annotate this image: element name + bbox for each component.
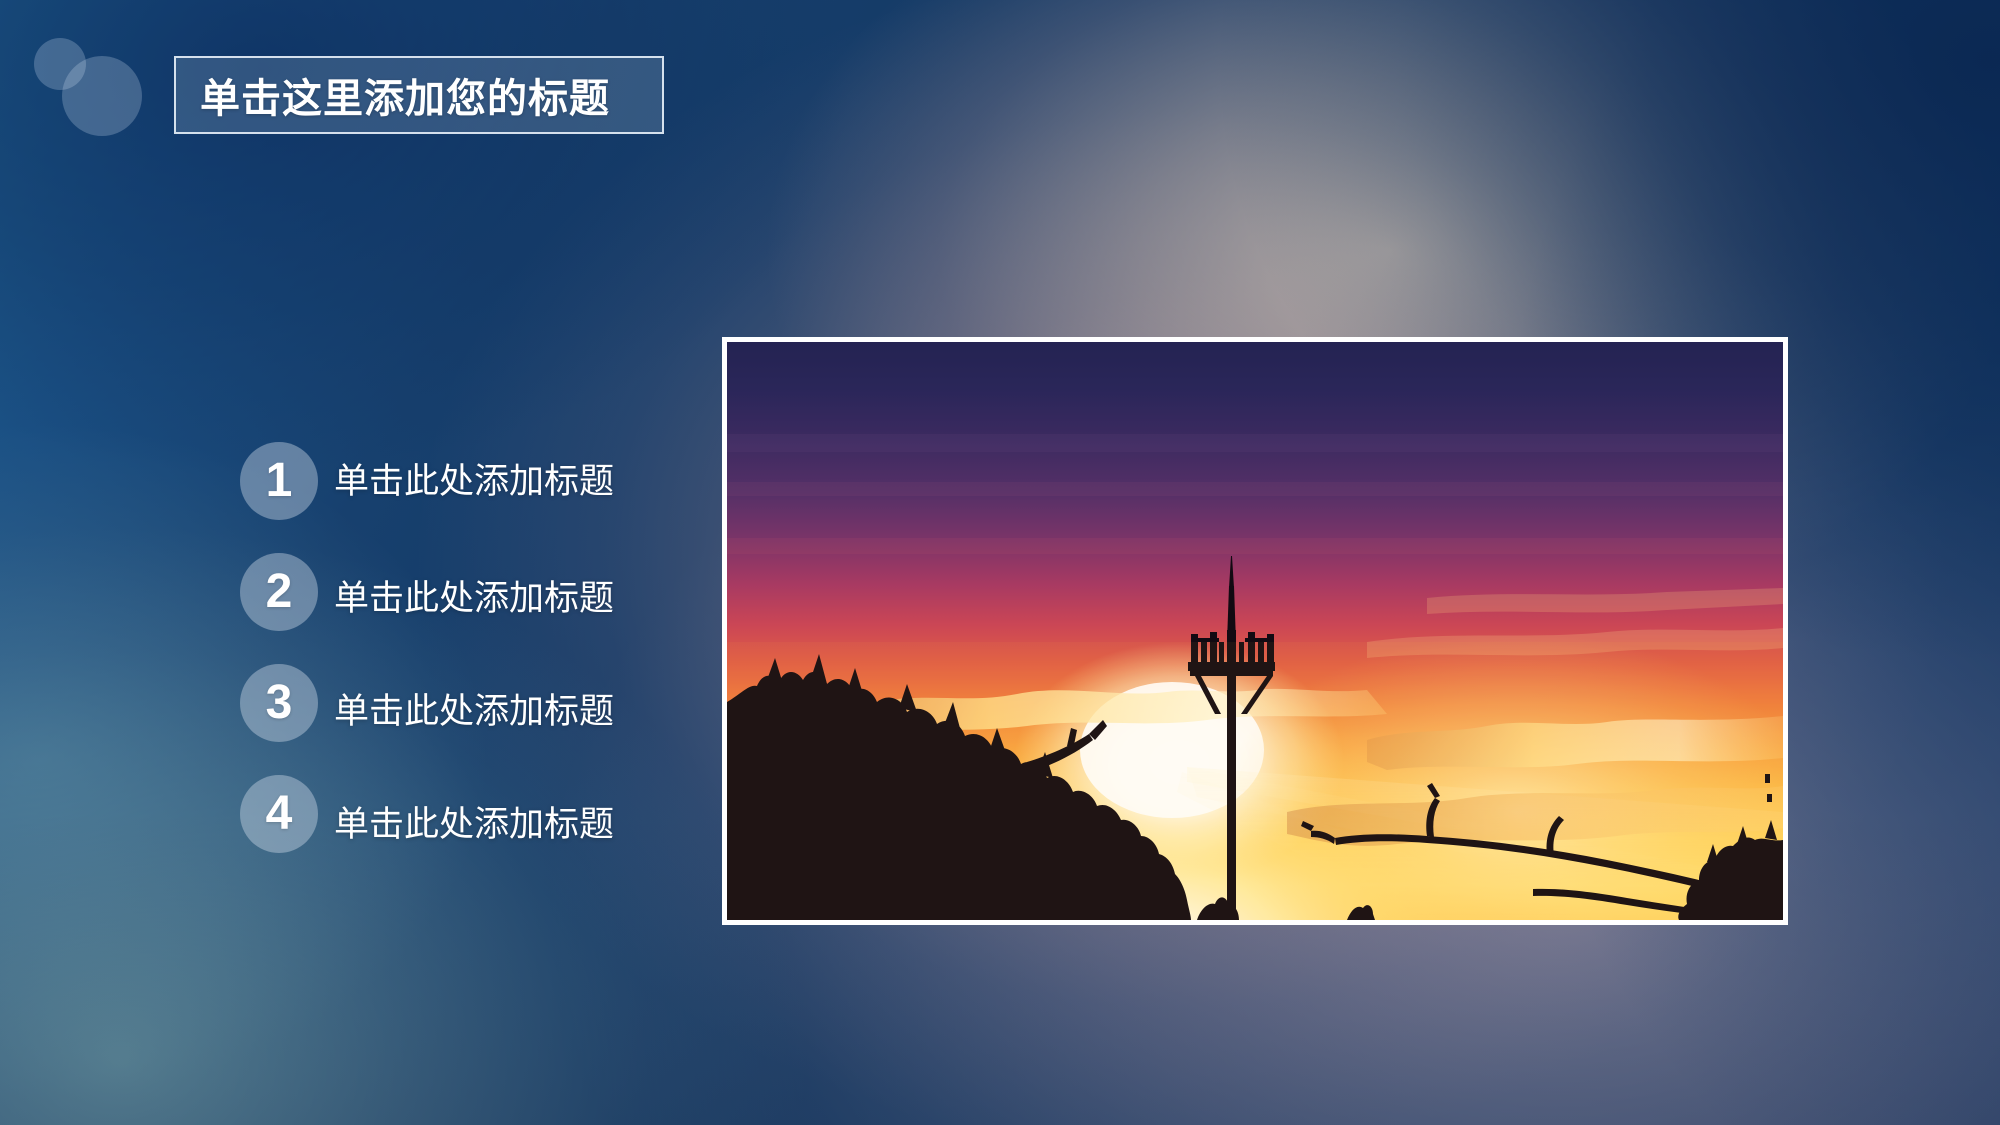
item-number-badge: 3 [240,664,318,742]
sunset-photo [727,342,1783,920]
item-title-label: 单击此处添加标题 [334,453,614,504]
list-item[interactable]: 3 单击此处添加标题 [240,647,660,758]
slide-title-text: 单击这里添加您的标题 [200,66,610,124]
item-number-label: 1 [266,457,293,505]
sunset-photo-artwork [727,342,1783,920]
item-number-badge: 4 [240,775,318,853]
item-number-label: 2 [266,568,293,616]
item-title-label: 单击此处添加标题 [334,570,614,621]
numbered-item-list: 1 单击此处添加标题 2 单击此处添加标题 3 单击此处添加标题 4 单击此处添… [240,425,660,869]
item-number-badge: 1 [240,442,318,520]
slide-title-box[interactable]: 单击这里添加您的标题 [174,56,664,134]
decorative-circle-large-icon [62,56,142,136]
list-item[interactable]: 1 单击此处添加标题 [240,425,660,536]
item-number-label: 3 [266,679,293,727]
item-title-label: 单击此处添加标题 [334,796,614,847]
decorative-circles-group [34,36,154,146]
list-item[interactable]: 2 单击此处添加标题 [240,536,660,647]
list-item[interactable]: 4 单击此处添加标题 [240,758,660,869]
item-number-label: 4 [266,790,293,838]
image-placeholder-frame[interactable] [722,337,1788,925]
item-title-label: 单击此处添加标题 [334,683,614,734]
item-number-badge: 2 [240,553,318,631]
presentation-slide: 单击这里添加您的标题 1 单击此处添加标题 2 单击此处添加标题 3 单击此处添… [0,0,2000,1125]
